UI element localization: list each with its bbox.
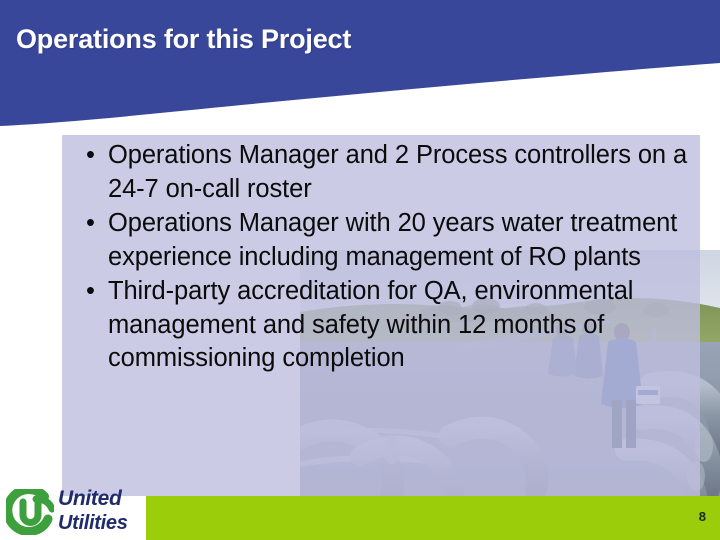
list-item: • Operations Manager and 2 Process contr…: [62, 139, 700, 206]
bullet-marker-icon: •: [86, 275, 102, 309]
list-item-text: Third-party accreditation for QA, enviro…: [108, 277, 633, 372]
bullet-marker-icon: •: [86, 207, 102, 241]
footer-green-bar: 8: [146, 496, 720, 540]
content-panel: • Operations Manager and 2 Process contr…: [62, 133, 700, 496]
list-item-text: Operations Manager with 20 years water t…: [108, 209, 677, 271]
list-item: • Operations Manager with 20 years water…: [62, 207, 700, 274]
united-utilities-logo: United Utilities: [4, 487, 146, 537]
header-band: Operations for this Project: [0, 0, 720, 135]
united-utilities-wordmark: United Utilities: [58, 487, 146, 537]
page-title: Operations for this Project: [16, 25, 351, 55]
list-item: • Third-party accreditation for QA, envi…: [62, 275, 700, 376]
list-item-text: Operations Manager and 2 Process control…: [108, 141, 687, 203]
united-utilities-mark-icon: [6, 489, 54, 535]
page-number: 8: [699, 510, 706, 524]
slide: • Operations Manager and 2 Process contr…: [0, 0, 720, 540]
logo-line-utilities: Utilities: [58, 511, 146, 535]
logo-line-united: United: [58, 487, 146, 511]
bullet-list: • Operations Manager and 2 Process contr…: [62, 139, 700, 377]
bullet-marker-icon: •: [86, 139, 102, 173]
